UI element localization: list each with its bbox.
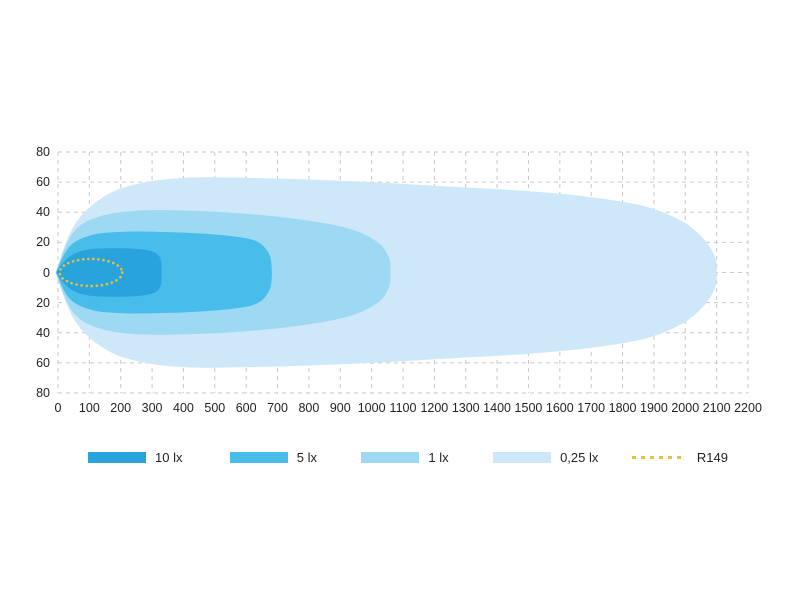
y-tick-label: 80 xyxy=(24,146,50,159)
legend-label: R149 xyxy=(697,450,728,465)
legend-label: 0,25 lx xyxy=(560,450,598,465)
legend-item-r149[interactable]: R149 xyxy=(630,443,728,471)
y-tick-label: 20 xyxy=(24,297,50,310)
legend-label: 1 lx xyxy=(428,450,448,465)
y-tick-label: 20 xyxy=(24,236,50,249)
chart-canvas xyxy=(0,0,800,600)
isolux-areas xyxy=(56,177,717,368)
legend-item-0-25-lx[interactable]: 0,25 lx xyxy=(493,443,598,471)
plot-area xyxy=(0,0,800,600)
legend-item-5-lx[interactable]: 5 lx xyxy=(230,443,317,471)
y-tick-label: 80 xyxy=(24,387,50,400)
color-swatch-icon xyxy=(88,452,146,463)
chart-legend: 10 lx5 lx1 lx0,25 lxR149 xyxy=(88,443,728,471)
legend-item-10-lx[interactable]: 10 lx xyxy=(88,443,182,471)
y-tick-label: 60 xyxy=(24,176,50,189)
y-tick-label: 60 xyxy=(24,357,50,370)
color-swatch-icon xyxy=(493,452,551,463)
x-tick-label: 2200 xyxy=(728,402,768,415)
y-tick-label: 40 xyxy=(24,327,50,340)
dotted-line-icon xyxy=(630,452,688,463)
y-tick-label: 0 xyxy=(24,267,50,280)
legend-label: 10 lx xyxy=(155,450,182,465)
y-tick-label: 40 xyxy=(24,206,50,219)
legend-label: 5 lx xyxy=(297,450,317,465)
legend-item-1-lx[interactable]: 1 lx xyxy=(361,443,448,471)
color-swatch-icon xyxy=(230,452,288,463)
isolux-area-10-lx xyxy=(56,248,161,297)
beam-pattern-chart: 80604020020406080 0100200300400500600700… xyxy=(0,0,800,600)
color-swatch-icon xyxy=(361,452,419,463)
